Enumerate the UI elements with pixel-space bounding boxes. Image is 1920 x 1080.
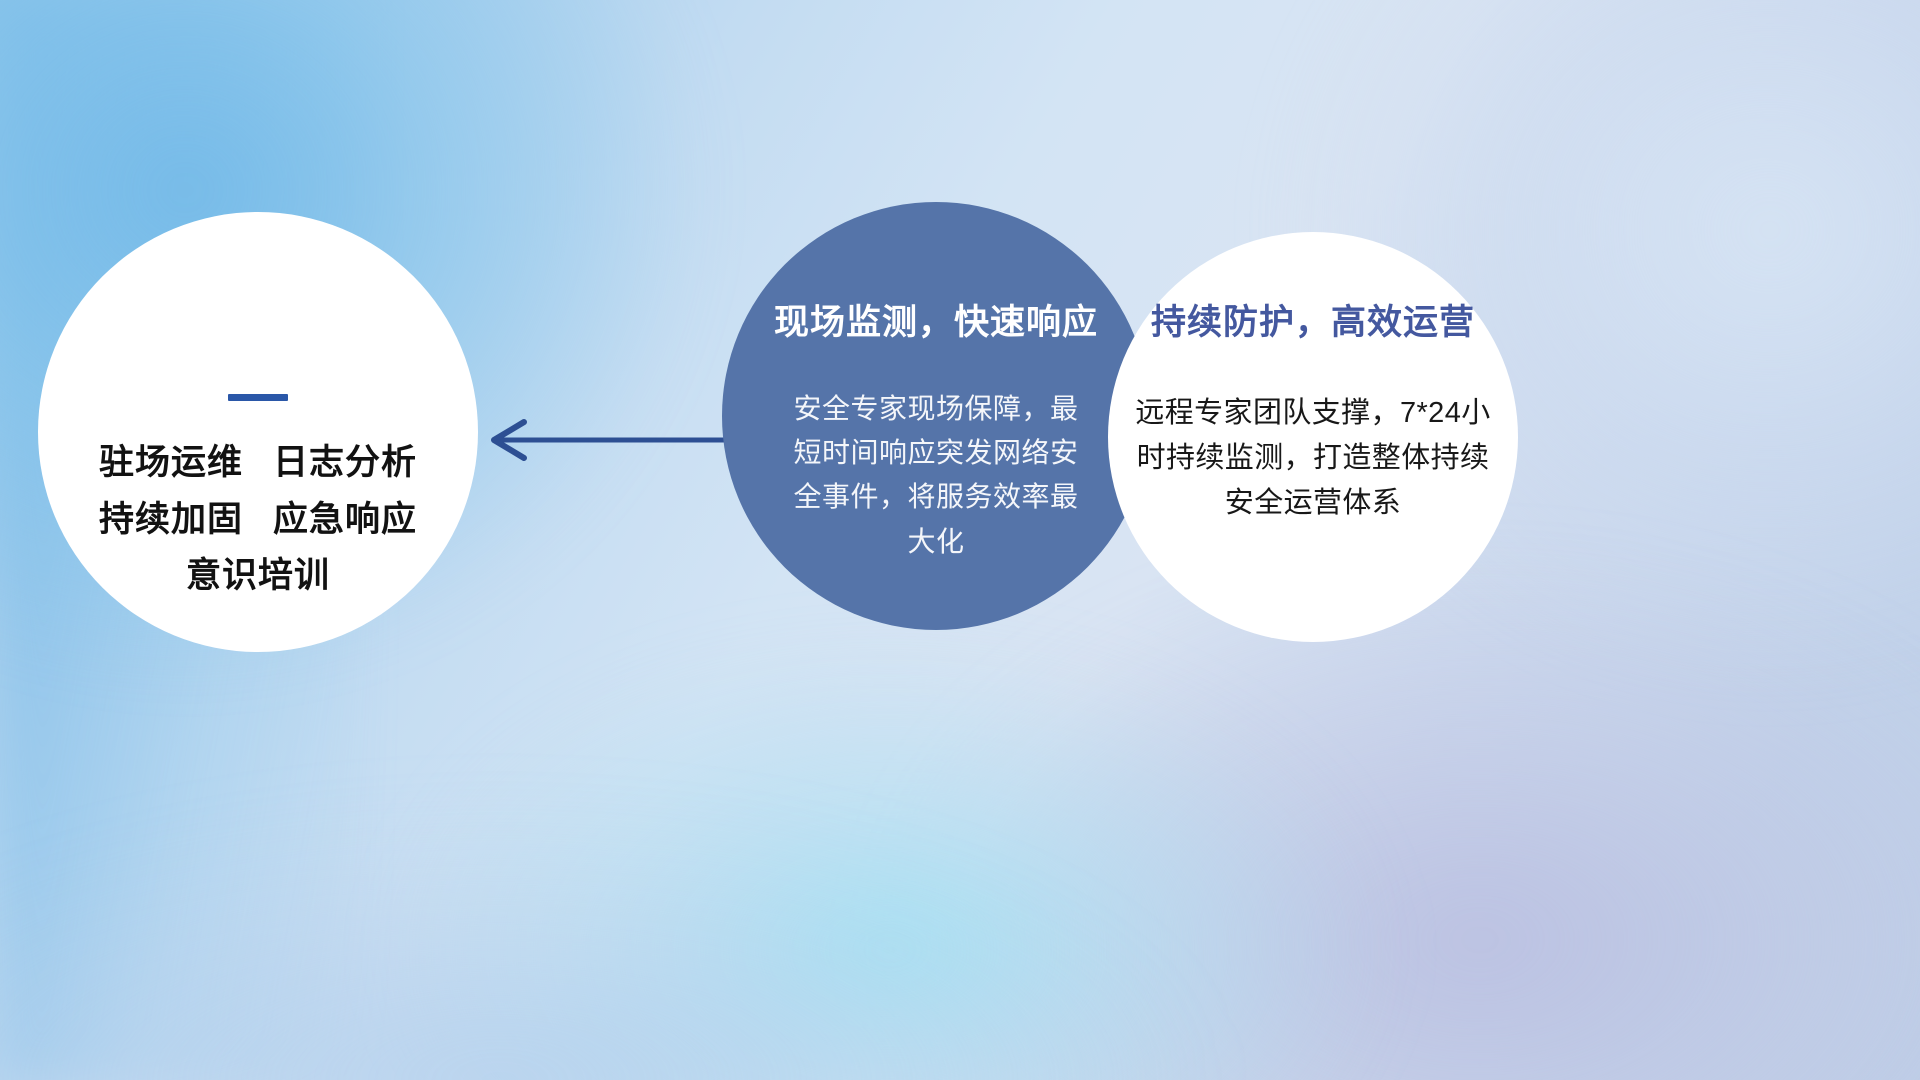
keyword-list: 驻场运维日志分析 持续加固应急响应 意识培训 <box>99 435 417 605</box>
keyword-label: 应急响应 <box>273 500 417 539</box>
right-circle-body: 远程专家团队支撑，7*24小时持续监测，打造整体持续安全运营体系 <box>1127 391 1499 527</box>
mid-circle-title: 现场监测，快速响应 <box>774 294 1098 345</box>
slide-canvas: 驻场运维日志分析 持续加固应急响应 意识培训 现场监测，快速响应 安全专家现场保… <box>0 0 1920 1080</box>
left-capability-circle: 驻场运维日志分析 持续加固应急响应 意识培训 <box>38 212 478 652</box>
keyword-row: 意识培训 <box>99 548 417 605</box>
keyword-label: 意识培训 <box>186 556 330 595</box>
right-circle-title: 持续防护，高效运营 <box>1151 294 1475 345</box>
mid-onsite-circle: 现场监测，快速响应 安全专家现场保障，最短时间响应突发网络安全事件，将服务效率最… <box>722 202 1150 630</box>
right-operations-content: 持续防护，高效运营 远程专家团队支撑，7*24小时持续监测，打造整体持续安全运营… <box>1108 232 1518 642</box>
keyword-label: 驻场运维 <box>99 443 243 482</box>
mid-circle-body: 安全专家现场保障，最短时间响应突发网络安全事件，将服务效率最大化 <box>791 387 1081 564</box>
keyword-row: 驻场运维日志分析 <box>99 435 417 492</box>
keyword-row: 持续加固应急响应 <box>99 492 417 549</box>
keyword-label: 持续加固 <box>99 500 243 539</box>
keyword-label: 日志分析 <box>273 443 417 482</box>
divider-dash-icon <box>228 394 288 401</box>
